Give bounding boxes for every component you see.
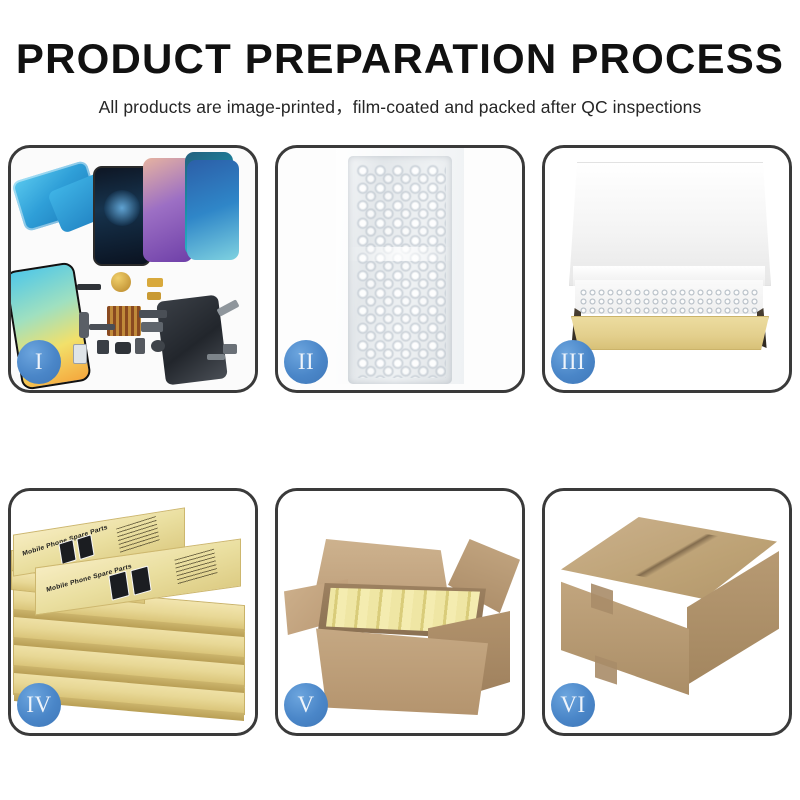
step-panel-6: VI — [542, 488, 792, 736]
step-panel-4: Mobile Phone Spare Parts Mobile Phone Sp… — [8, 488, 258, 736]
step-panel-1: I — [8, 145, 258, 393]
speaker-part — [151, 340, 165, 352]
step-panel-2: II — [275, 145, 525, 393]
bubble-wrapped-item — [348, 156, 452, 384]
component-part — [115, 342, 131, 354]
sim-tray-part — [73, 344, 87, 364]
component-part — [79, 312, 89, 338]
box-spec-lines — [174, 549, 217, 585]
step-badge-4: IV — [17, 683, 61, 727]
film-highlight — [348, 247, 452, 261]
component-part — [135, 338, 145, 354]
component-part — [223, 344, 237, 354]
page-header: PRODUCT PREPARATION PROCESS All products… — [0, 0, 800, 119]
process-steps-grid: I II — [8, 145, 792, 729]
box-screen-image — [108, 571, 129, 601]
blue-phone-screen — [187, 160, 239, 260]
component-part — [89, 324, 115, 330]
screwdriver-tool — [216, 299, 239, 316]
flex-cable-part — [107, 306, 141, 336]
step-badge-3: III — [551, 340, 595, 384]
step-badge-1: I — [17, 340, 61, 384]
step-badge-5: V — [284, 683, 328, 727]
step-badge-2: II — [284, 340, 328, 384]
product-preparation-process-page: PRODUCT PREPARATION PROCESS All products… — [0, 0, 800, 800]
carton-front-panel — [561, 577, 689, 695]
component-part — [139, 310, 167, 318]
page-title: PRODUCT PREPARATION PROCESS — [0, 0, 800, 80]
component-part — [97, 340, 109, 354]
component-part — [77, 284, 101, 290]
component-part — [147, 292, 161, 300]
camera-lens-part — [111, 272, 131, 292]
bubble-pattern-overlay — [362, 170, 446, 378]
component-part — [147, 278, 163, 287]
component-part — [207, 354, 225, 360]
component-part — [141, 322, 163, 332]
bubble-wrapped-contents — [579, 288, 759, 320]
step-panel-3: III — [542, 145, 792, 393]
page-subtitle: All products are image-printed，film-coat… — [0, 80, 800, 119]
box-spec-lines — [116, 516, 160, 554]
step-badge-6: VI — [551, 683, 595, 727]
kraft-box-front — [571, 316, 769, 350]
box-screen-image — [130, 565, 151, 595]
box-screen-image — [76, 534, 94, 560]
step-panel-5: V — [275, 488, 525, 736]
